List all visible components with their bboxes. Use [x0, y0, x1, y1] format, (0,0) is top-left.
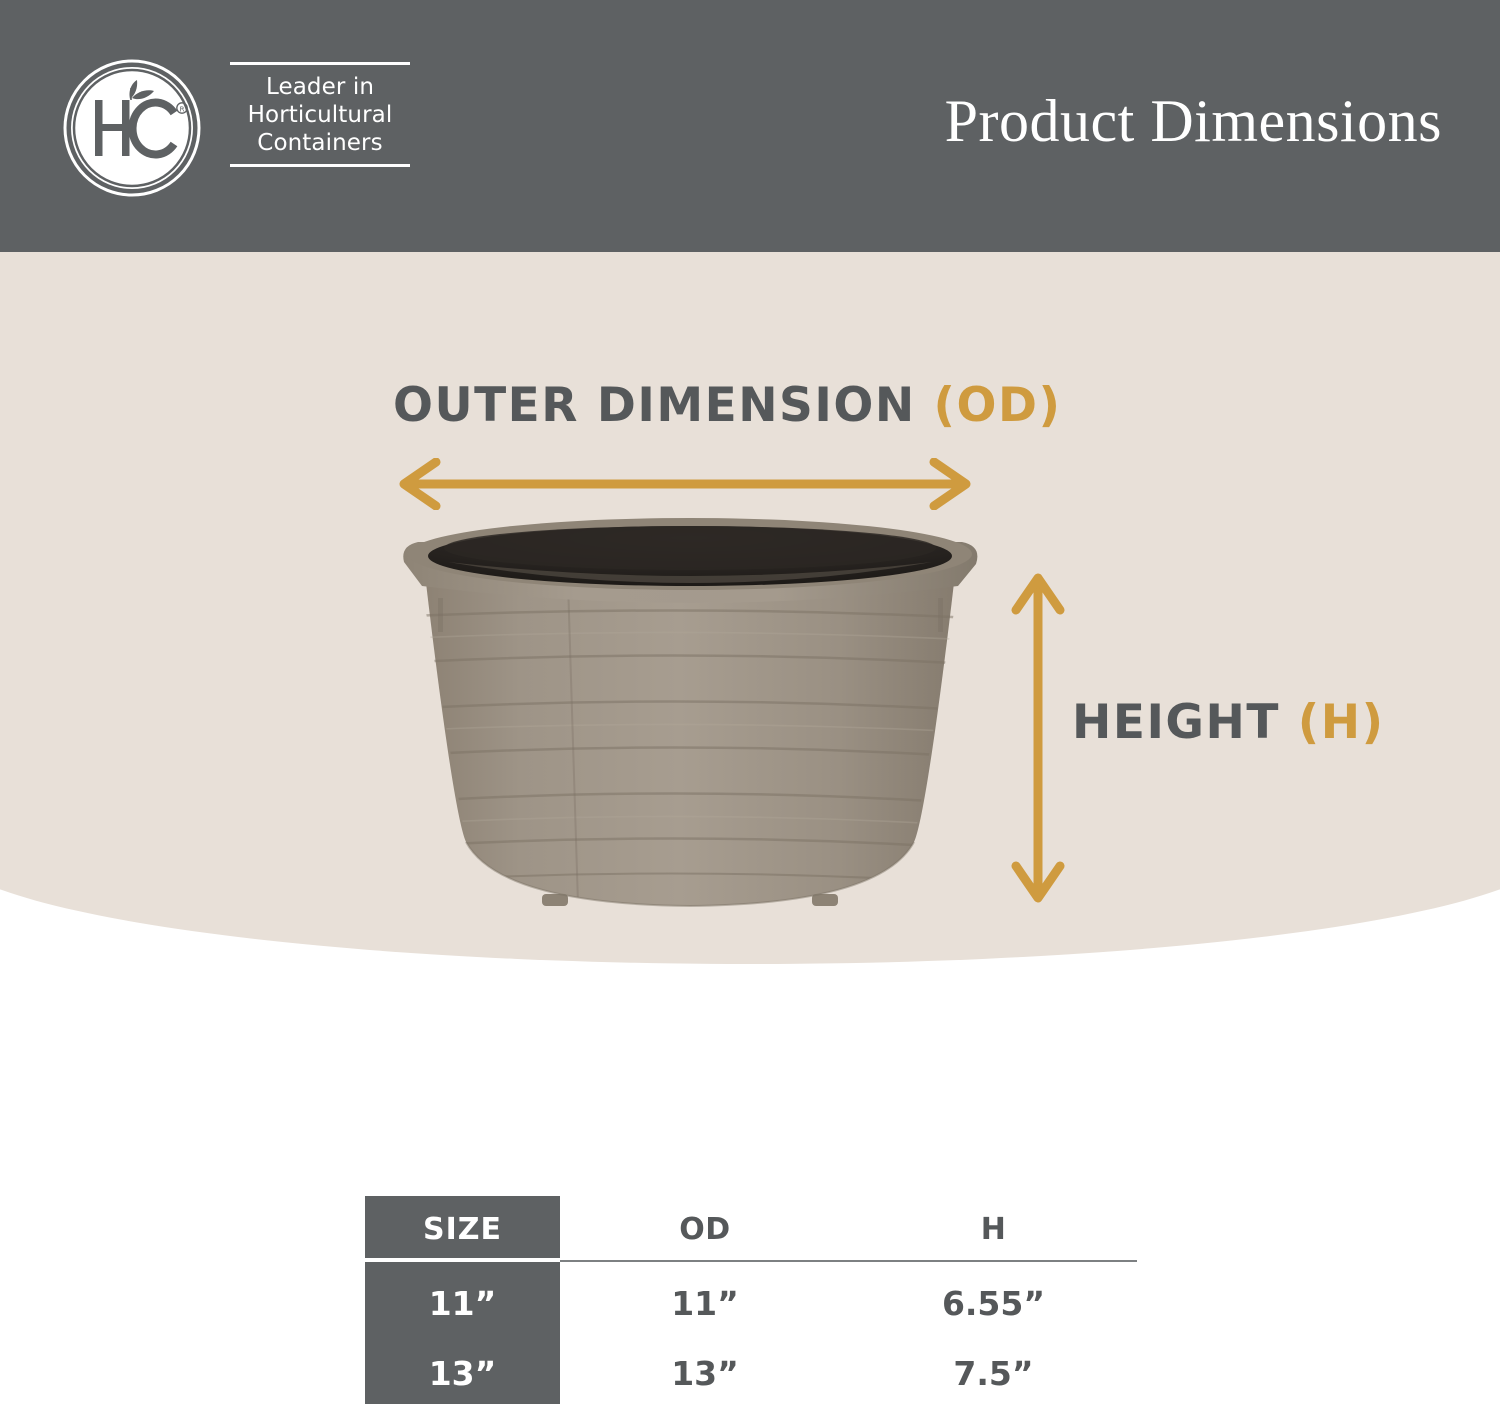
- row-0-od: 11”: [560, 1284, 850, 1323]
- height-label-text: HEIGHT: [1072, 695, 1298, 750]
- column-header-h: H: [850, 1212, 1137, 1247]
- outer-dimension-label: OUTER DIMENSION (OD): [393, 378, 1061, 433]
- row-1-od: 13”: [560, 1354, 850, 1393]
- tagline-lines: Leader in Horticultural Containers: [230, 65, 410, 164]
- brand-tagline: Leader in Horticultural Containers: [230, 62, 410, 167]
- tagline-line-1: Leader in: [230, 73, 410, 101]
- header-band: R Leader in Horticultural Containers Pro…: [0, 0, 1500, 252]
- tagline-line-3: Containers: [230, 129, 410, 157]
- tagline-line-2: Horticultural: [230, 101, 410, 129]
- row-0-h: 6.55”: [850, 1284, 1137, 1323]
- planter-soil-void: [444, 526, 936, 570]
- planter-body: [425, 574, 955, 906]
- row-1-size: 13”: [365, 1354, 560, 1393]
- outer-dimension-label-text: OUTER DIMENSION: [393, 378, 934, 433]
- outer-dimension-arrow-icon: [392, 458, 978, 510]
- outer-dimension-label-code: (OD): [934, 378, 1062, 433]
- height-label: HEIGHT (H): [1072, 695, 1385, 750]
- tagline-rule-bottom: [230, 164, 410, 167]
- hc-logo-icon: R: [62, 58, 202, 198]
- height-arrow-icon: [1010, 568, 1066, 908]
- planter-product-image: [392, 512, 988, 924]
- column-header-size: SIZE: [365, 1212, 560, 1247]
- height-label-code: (H): [1298, 695, 1385, 750]
- column-header-od: OD: [560, 1212, 850, 1247]
- brand-logo: R Leader in Horticultural Containers: [62, 58, 412, 198]
- product-dimensions-infographic: R Leader in Horticultural Containers Pro…: [0, 0, 1500, 1404]
- svg-text:R: R: [180, 105, 185, 113]
- table-header-rule: [560, 1260, 1137, 1262]
- row-0-size: 11”: [365, 1284, 560, 1323]
- spec-table: SIZE OD H 11” 11” 6.55” 13” 13” 7.5”: [365, 1196, 1137, 1404]
- page-title: Product Dimensions: [945, 86, 1442, 156]
- row-1-h: 7.5”: [850, 1354, 1137, 1393]
